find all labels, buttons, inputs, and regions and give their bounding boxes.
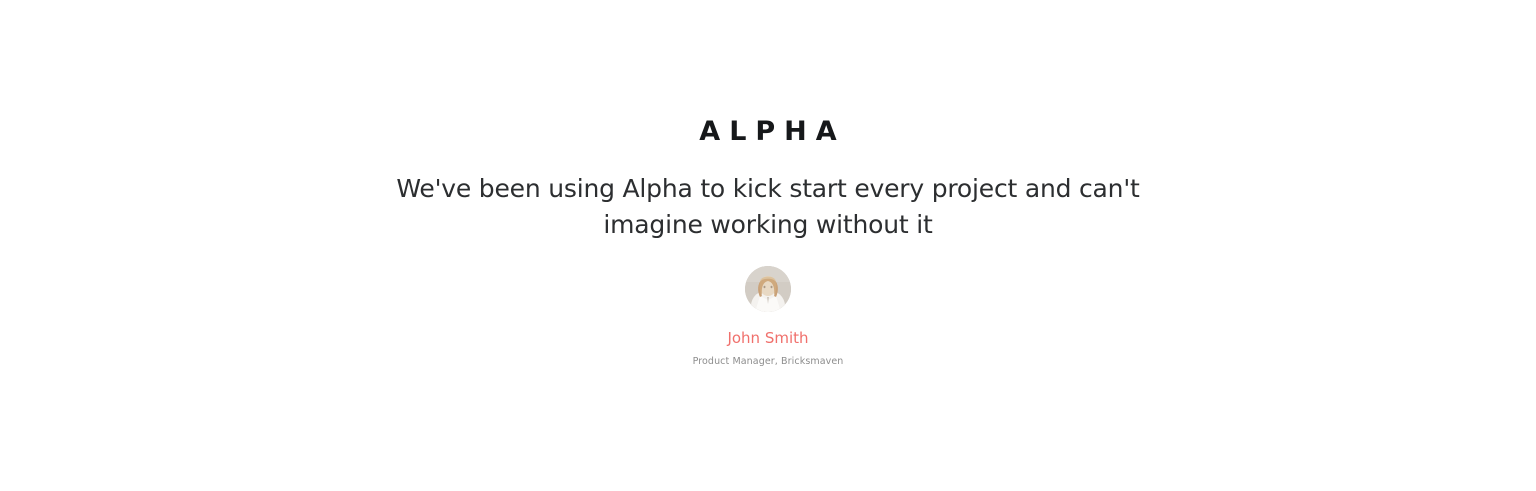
avatar [745,266,791,312]
testimonial-quote: We've been using Alpha to kick start eve… [368,171,1168,243]
author-name: John Smith [727,331,808,346]
brand-title: ALPHA [690,118,845,145]
testimonial-section: ALPHA We've been using Alpha to kick sta… [0,0,1536,491]
person-portrait-avatar-icon [745,266,791,312]
author-role: Product Manager, Bricksmaven [693,357,844,367]
